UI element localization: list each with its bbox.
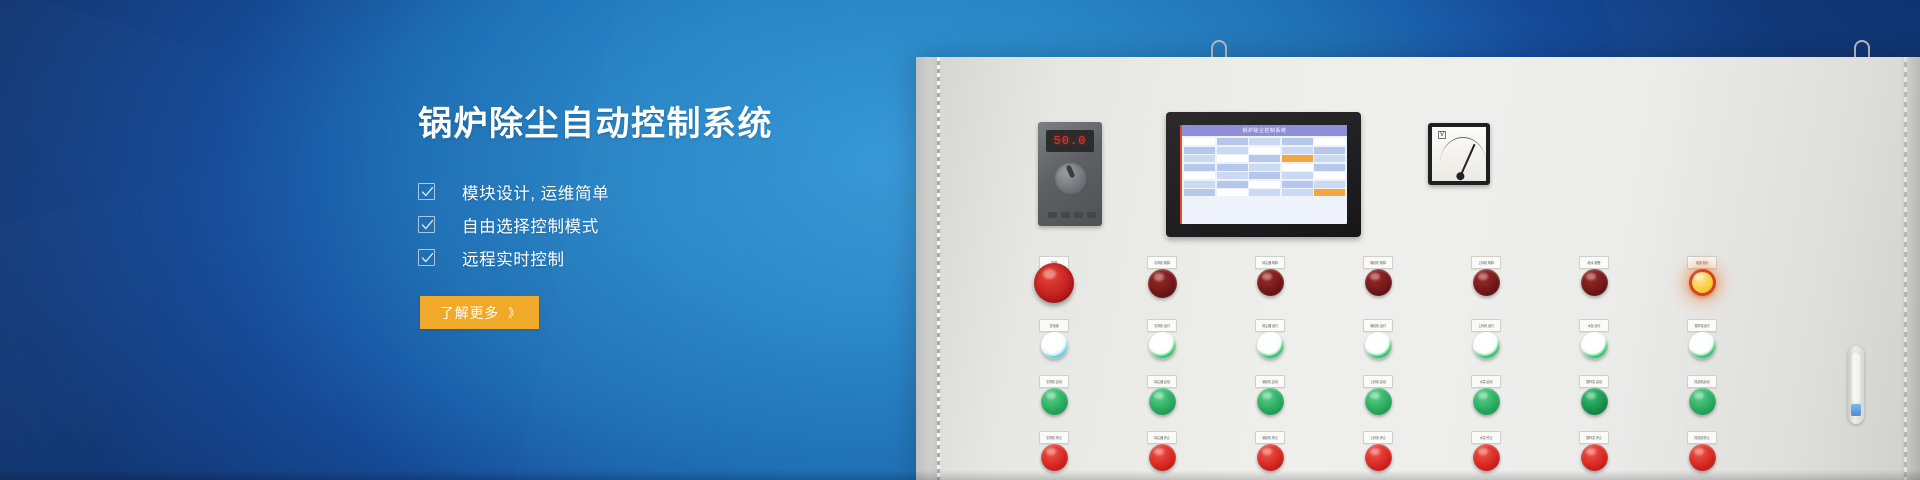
floor-shadow: [0, 470, 1920, 480]
list-item: 模块设计, 运维简单: [418, 175, 848, 208]
button-tag: 上料机 启动: [1363, 375, 1393, 388]
start-button[interactable]: [1581, 388, 1608, 415]
start-button[interactable]: [1473, 388, 1500, 415]
button-tag: 上料机 运行: [1471, 319, 1501, 332]
hmi-touch-panel[interactable]: 锅炉除尘控制系统: [1166, 112, 1361, 237]
button-cell: 电源 指示: [1648, 269, 1756, 303]
button-tag-label: 总电源: [1050, 324, 1059, 328]
voltmeter-unit-label: V: [1438, 131, 1446, 139]
hmi-data-table: [1182, 136, 1347, 198]
fault-indicator-lamp[interactable]: [1581, 269, 1608, 296]
running-indicator-lamp[interactable]: [1149, 332, 1176, 359]
button-tag-label: 水泵 停止: [1480, 436, 1493, 440]
start-button[interactable]: [1257, 388, 1284, 415]
button-tag: 除渣机停止: [1687, 431, 1717, 444]
button-tag-label: 引风机 故障: [1154, 261, 1170, 265]
emergency-and-alarm-row: 急停 引风机 故障 除尘器 故障 输灰机 故障 上料机 故障 缺水 报警 电源 …: [1000, 269, 1760, 303]
control-button-grid: 急停 引风机 故障 除尘器 故障 输灰机 故障 上料机 故障 缺水 报警 电源 …: [1000, 269, 1760, 480]
start-button[interactable]: [1149, 388, 1176, 415]
control-cabinet-image: 50.0 锅炉除尘控制系统: [916, 0, 1920, 480]
hero-banner: 锅炉除尘自动控制系统 模块设计, 运维简单 自由选择控制模式 远程实时控制: [0, 0, 1920, 480]
button-cell: 急停: [1000, 269, 1108, 303]
stop-button[interactable]: [1149, 444, 1176, 471]
button-tag: 水泵 运行: [1579, 319, 1609, 332]
button-tag-label: 上料机 运行: [1478, 324, 1494, 328]
running-indicator-lamp[interactable]: [1581, 332, 1608, 359]
button-cell: 引风机 故障: [1108, 269, 1216, 303]
table-row: [1184, 164, 1345, 171]
button-tag-label: 除尘器 启动: [1154, 380, 1170, 384]
button-tag: 循环泵 启动: [1579, 375, 1609, 388]
button-tag: 引风机 运行: [1147, 319, 1177, 332]
button-cell: 上料机 停止: [1324, 444, 1432, 471]
vfd-button-group[interactable]: [1048, 212, 1096, 218]
running-indicator-lamp[interactable]: [1041, 332, 1068, 359]
checkbox-icon: [418, 183, 435, 200]
button-cell: 输灰机 故障: [1324, 269, 1432, 303]
page-title: 锅炉除尘自动控制系统: [418, 104, 848, 144]
button-cell: 除尘器 停止: [1108, 444, 1216, 471]
button-cell: 除尘器 故障: [1216, 269, 1324, 303]
start-button[interactable]: [1689, 388, 1716, 415]
vfd-display-value: 50.0: [1054, 134, 1087, 148]
cabinet-right-edge: [1902, 57, 1920, 480]
button-tag-label: 除尘器 运行: [1262, 324, 1278, 328]
start-button-row: 引风机 启动 除尘器 启动 输灰机 启动 上料机 启动 水泵 启动 循环泵 启动…: [1000, 388, 1760, 415]
checkbox-icon: [418, 216, 435, 233]
running-indicator-lamp[interactable]: [1365, 332, 1392, 359]
button-tag-label: 上料机 启动: [1370, 380, 1386, 384]
fault-indicator-lamp[interactable]: [1257, 269, 1284, 296]
stop-button[interactable]: [1365, 444, 1392, 471]
button-tag-label: 循环泵运行: [1695, 324, 1710, 328]
cabinet-hinge-strip: [916, 57, 940, 480]
fault-indicator-lamp[interactable]: [1148, 269, 1177, 298]
table-row: [1184, 155, 1345, 162]
button-cell: 水泵 启动: [1432, 388, 1540, 415]
button-tag-label: 输灰机 运行: [1370, 324, 1386, 328]
button-tag: 输灰机 启动: [1255, 375, 1285, 388]
button-tag: 总电源: [1039, 319, 1069, 332]
button-cell: 输灰机 启动: [1216, 388, 1324, 415]
button-tag: 引风机 启动: [1039, 375, 1069, 388]
button-cell: 引风机 停止: [1000, 444, 1108, 471]
stop-button[interactable]: [1473, 444, 1500, 471]
power-indicator-lamp[interactable]: [1689, 269, 1716, 296]
button-tag: 输灰机 故障: [1363, 256, 1393, 269]
button-tag: 输灰机 停止: [1255, 431, 1285, 444]
list-item: 自由选择控制模式: [418, 208, 848, 241]
button-tag-label: 引风机 停止: [1046, 436, 1062, 440]
lifting-eye-icon: [1854, 40, 1870, 58]
running-indicator-lamp[interactable]: [1689, 332, 1716, 359]
button-cell: 循环泵 启动: [1540, 388, 1648, 415]
button-cell: 除尘器 启动: [1108, 388, 1216, 415]
button-cell: 循环泵运行: [1648, 332, 1756, 359]
stop-button[interactable]: [1257, 444, 1284, 471]
button-tag: 水泵 启动: [1471, 375, 1501, 388]
button-tag: 循环泵 停止: [1579, 431, 1609, 444]
button-tag-label: 输灰机 故障: [1370, 261, 1386, 265]
table-row: [1184, 147, 1345, 154]
button-tag-label: 上料机 停止: [1370, 436, 1386, 440]
button-tag-label: 水泵 启动: [1480, 380, 1493, 384]
button-tag: 除尘器 运行: [1255, 319, 1285, 332]
hmi-screen-title-label: 锅炉除尘控制系统: [1242, 127, 1286, 134]
vfd-speed-controller[interactable]: 50.0: [1038, 122, 1102, 226]
button-cell: 循环泵 停止: [1540, 444, 1648, 471]
stop-button[interactable]: [1581, 444, 1608, 471]
stop-button[interactable]: [1041, 444, 1068, 471]
button-cell: 输灰机 停止: [1216, 444, 1324, 471]
cabinet-door-handle[interactable]: [1848, 346, 1864, 424]
table-row: [1184, 172, 1345, 179]
button-tag-label: 输灰机 启动: [1262, 380, 1278, 384]
stop-button-row: 引风机 停止 除尘器 停止 输灰机 停止 上料机 停止 水泵 停止 循环泵 停止…: [1000, 444, 1760, 471]
stop-button[interactable]: [1689, 444, 1716, 471]
button-tag-label: 电源 指示: [1696, 261, 1709, 265]
button-tag-label: 引风机 启动: [1046, 380, 1062, 384]
button-cell: 水泵 运行: [1540, 332, 1648, 359]
button-tag-label: 循环泵 停止: [1586, 436, 1602, 440]
button-tag: 除尘器 启动: [1147, 375, 1177, 388]
button-cell: 缺水 报警: [1540, 269, 1648, 303]
analog-voltmeter: V: [1428, 123, 1490, 185]
lifting-eye-icon: [1211, 40, 1227, 58]
voltmeter-face: V: [1432, 127, 1486, 181]
vfd-knob[interactable]: [1054, 162, 1088, 196]
learn-more-label: 了解更多: [440, 303, 499, 323]
button-tag-label: 输灰机 停止: [1262, 436, 1278, 440]
feature-bullet-list: 模块设计, 运维简单 自由选择控制模式 远程实时控制: [418, 175, 848, 274]
button-tag: 除渣机启动: [1687, 375, 1717, 388]
vfd-button[interactable]: [1048, 212, 1057, 218]
button-tag: 引风机 停止: [1039, 431, 1069, 444]
button-tag: 上料机 停止: [1363, 431, 1393, 444]
button-tag-label: 除尘器 停止: [1154, 436, 1170, 440]
hmi-screen[interactable]: 锅炉除尘控制系统: [1180, 125, 1347, 224]
button-cell: 上料机 运行: [1432, 332, 1540, 359]
start-button[interactable]: [1041, 388, 1068, 415]
button-cell: 引风机 启动: [1000, 388, 1108, 415]
button-cell: 除渣机停止: [1648, 444, 1756, 471]
button-tag-label: 除尘器 故障: [1262, 261, 1278, 265]
button-tag: 水泵 停止: [1471, 431, 1501, 444]
chevron-right-icon: 》: [508, 304, 519, 321]
voltmeter-scale-arc: [1440, 137, 1486, 163]
button-tag: 上料机 故障: [1471, 256, 1501, 269]
table-row: [1184, 189, 1345, 196]
button-cell: 上料机 故障: [1432, 269, 1540, 303]
vfd-button[interactable]: [1074, 212, 1083, 218]
vfd-display: 50.0: [1046, 130, 1094, 152]
button-cell: 引风机 运行: [1108, 332, 1216, 359]
button-tag: 输灰机 运行: [1363, 319, 1393, 332]
learn-more-button[interactable]: 了解更多 》: [420, 296, 539, 329]
button-tag-label: 水泵 运行: [1588, 324, 1601, 328]
running-indicator-lamp[interactable]: [1473, 332, 1500, 359]
fault-indicator-lamp[interactable]: [1473, 269, 1500, 296]
running-indicator-lamp[interactable]: [1257, 332, 1284, 359]
button-tag: 缺水 报警: [1579, 256, 1609, 269]
table-row: [1184, 138, 1345, 145]
banner-copy-block: 锅炉除尘自动控制系统 模块设计, 运维简单 自由选择控制模式 远程实时控制: [418, 104, 848, 274]
table-row: [1184, 181, 1345, 188]
button-tag-label: 上料机 故障: [1478, 261, 1494, 265]
button-cell: 输灰机 运行: [1324, 332, 1432, 359]
vfd-button[interactable]: [1087, 212, 1096, 218]
start-button[interactable]: [1365, 388, 1392, 415]
button-tag-label: 缺水 报警: [1588, 261, 1601, 265]
list-item-label: 自由选择控制模式: [462, 213, 599, 237]
emergency-stop-button[interactable]: [1034, 263, 1074, 303]
button-cell: 水泵 停止: [1432, 444, 1540, 471]
button-tag-label: 除渣机启动: [1695, 380, 1710, 384]
button-cell: 总电源: [1000, 332, 1108, 359]
button-cell: 上料机 启动: [1324, 388, 1432, 415]
button-tag-label: 循环泵 启动: [1586, 380, 1602, 384]
list-item-label: 远程实时控制: [462, 246, 565, 270]
fault-indicator-lamp[interactable]: [1365, 269, 1392, 296]
button-tag: 电源 指示: [1687, 256, 1717, 269]
button-tag: 除尘器 停止: [1147, 431, 1177, 444]
button-tag-label: 引风机 运行: [1154, 324, 1170, 328]
power-indicator-row: 总电源 引风机 运行 除尘器 运行 输灰机 运行 上料机 运行 水泵 运行 循环…: [1000, 332, 1760, 359]
button-cell: 除渣机启动: [1648, 388, 1756, 415]
button-tag-label: 除渣机停止: [1695, 436, 1710, 440]
button-cell: 除尘器 运行: [1216, 332, 1324, 359]
cabinet-body: 50.0 锅炉除尘控制系统: [916, 57, 1920, 480]
hmi-screen-title: 锅炉除尘控制系统: [1182, 125, 1347, 136]
button-tag: 循环泵运行: [1687, 319, 1717, 332]
list-item: 远程实时控制: [418, 241, 848, 274]
button-tag: 除尘器 故障: [1255, 256, 1285, 269]
checkbox-icon: [418, 249, 435, 266]
list-item-label: 模块设计, 运维简单: [462, 180, 609, 204]
vfd-button[interactable]: [1061, 212, 1070, 218]
button-tag: 引风机 故障: [1147, 256, 1177, 269]
